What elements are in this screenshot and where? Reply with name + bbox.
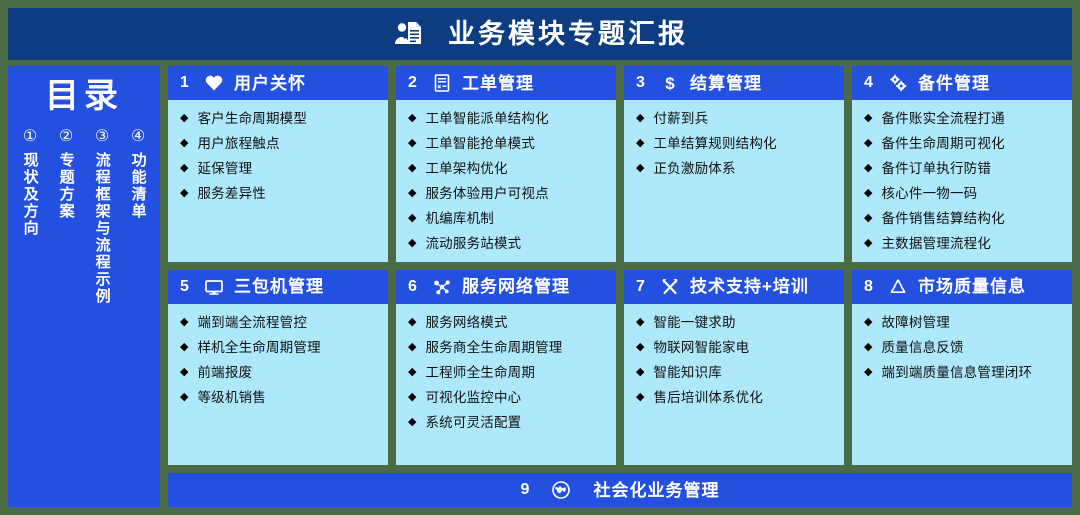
list-item: ◆服务商全生命周期管理 [408,338,610,357]
app-header: 业务模块专题汇报 [8,8,1072,60]
list-item-label: 付薪到兵 [653,109,708,128]
module-card-5-number: 5 [180,279,194,295]
module-card-6-title: 服务网络管理 [462,278,570,295]
sidebar-item-3-label: 流程框架与流程示例 [93,152,110,305]
dollar-icon: $ [660,73,680,93]
module-card-3-number: 3 [636,75,650,91]
list-item-label: 备件生命周期可视化 [881,134,1004,153]
diamond-bullet-icon: ◆ [636,388,644,407]
module-card-grid: 1 用户关怀 ◆客户生命周期模型 ◆用户旅程触点 ◆延保管理 ◆服务差异性 2 [168,66,1072,465]
list-item-label: 工单结算规则结构化 [653,134,776,153]
list-item-label: 故障树管理 [881,313,950,332]
sidebar-item-2-label: 专题方案 [57,152,74,220]
sidebar-item-1-number: ① [23,129,37,145]
list-item: ◆备件订单执行防错 [864,159,1066,178]
diamond-bullet-icon: ◆ [636,363,644,382]
diamond-bullet-icon: ◆ [864,209,872,228]
sidebar-item-4[interactable]: ④ 功能清单 [122,129,154,220]
diamond-bullet-icon: ◆ [636,134,644,153]
module-card-2-number: 2 [408,75,422,91]
crossed-tools-icon [660,277,680,297]
list-item: ◆机编库机制 [408,209,610,228]
diamond-bullet-icon: ◆ [636,338,644,357]
module-card-8-items: ◆故障树管理 ◆质量信息反馈 ◆端到端质量信息管理闭环 [852,304,1072,466]
sidebar-toc-list: ④ 功能清单 ③ 流程框架与流程示例 ② 专题方案 ① 现状及方向 [8,129,160,305]
list-item-label: 备件账实全流程打通 [881,109,1004,128]
module-card-1-title: 用户关怀 [234,75,306,92]
module-card-6[interactable]: 6 服务网络管理 ◆服务网络模式 ◆服务商全生命周期管理 ◆工程师全生命周期 [396,270,616,466]
list-item-label: 客户生命周期模型 [197,109,307,128]
diamond-bullet-icon: ◆ [864,109,872,128]
list-item: ◆服务差异性 [180,184,382,203]
sidebar-item-1[interactable]: ① 现状及方向 [14,129,46,237]
list-item-label: 端到端质量信息管理闭环 [881,363,1032,382]
module-card-9-title: 社会化业务管理 [593,482,719,499]
list-item: ◆工单结算规则结构化 [636,134,838,153]
module-card-7-number: 7 [636,279,650,295]
sidebar-item-4-number: ④ [131,129,145,145]
list-item: ◆付薪到兵 [636,109,838,128]
list-item-label: 工单架构优化 [425,159,507,178]
module-card-2-title: 工单管理 [462,75,534,92]
list-item: ◆用户旅程触点 [180,134,382,153]
list-item: ◆服务网络模式 [408,313,610,332]
diamond-bullet-icon: ◆ [408,338,416,357]
list-item-label: 主数据管理流程化 [881,234,991,253]
sidebar-title: 目录 [8,78,160,115]
diamond-bullet-icon: ◆ [864,313,872,332]
module-card-8-header: 8 市场质量信息 [852,270,1072,304]
module-card-9-footer[interactable]: 9 社会化业务管理 [168,473,1072,507]
sidebar-item-2-number: ② [59,129,73,145]
list-item: ◆智能知识库 [636,363,838,382]
list-item: ◆等级机销售 [180,388,382,407]
list-item: ◆质量信息反馈 [864,338,1066,357]
diamond-bullet-icon: ◆ [408,413,416,432]
diamond-bullet-icon: ◆ [180,338,188,357]
recycle-icon [888,277,908,297]
diamond-bullet-icon: ◆ [180,388,188,407]
list-item: ◆备件生命周期可视化 [864,134,1066,153]
module-card-1-header: 1 用户关怀 [168,66,388,100]
module-card-5[interactable]: 5 三包机管理 ◆端到端全流程管控 ◆样机全生命周期管理 ◆前端报废 ◆等级机销… [168,270,388,466]
list-item: ◆智能一键求助 [636,313,838,332]
list-item: ◆工单架构优化 [408,159,610,178]
diamond-bullet-icon: ◆ [864,363,872,382]
list-item-label: 样机全生命周期管理 [197,338,320,357]
list-item: ◆系统可灵活配置 [408,413,610,432]
sidebar-item-2[interactable]: ② 专题方案 [50,129,82,220]
person-document-icon [392,17,426,51]
module-card-1-number: 1 [180,75,194,91]
diamond-bullet-icon: ◆ [408,388,416,407]
diamond-bullet-icon: ◆ [408,134,416,153]
module-card-2[interactable]: 2 工单管理 ◆工单智能派单结构化 ◆工单智能抢单模式 ◆工单架构优化 ◆服务体… [396,66,616,262]
list-item-label: 用户旅程触点 [197,134,279,153]
list-item-label: 工程师全生命周期 [425,363,535,382]
list-item-label: 售后培训体系优化 [653,388,763,407]
diamond-bullet-icon: ◆ [408,184,416,203]
module-card-2-header: 2 工单管理 [396,66,616,100]
list-item-label: 系统可灵活配置 [425,413,521,432]
list-item-label: 等级机销售 [197,388,266,407]
list-item-label: 服务差异性 [197,184,266,203]
module-card-4-items: ◆备件账实全流程打通 ◆备件生命周期可视化 ◆备件订单执行防错 ◆核心件一物一码… [852,100,1072,262]
list-item-label: 端到端全流程管控 [197,313,307,332]
list-item: ◆售后培训体系优化 [636,388,838,407]
module-card-8-title: 市场质量信息 [918,278,1026,295]
module-card-7-items: ◆智能一键求助 ◆物联网智能家电 ◆智能知识库 ◆售后培训体系优化 [624,304,844,466]
monitor-icon [204,277,224,297]
list-item-label: 服务商全生命周期管理 [425,338,562,357]
diamond-bullet-icon: ◆ [180,159,188,178]
module-card-1[interactable]: 1 用户关怀 ◆客户生命周期模型 ◆用户旅程触点 ◆延保管理 ◆服务差异性 [168,66,388,262]
diamond-bullet-icon: ◆ [408,159,416,178]
module-card-5-header: 5 三包机管理 [168,270,388,304]
globe-icon [551,480,571,500]
list-item-label: 质量信息反馈 [881,338,963,357]
module-card-6-number: 6 [408,279,422,295]
list-item: ◆核心件一物一码 [864,184,1066,203]
list-item: ◆故障树管理 [864,313,1066,332]
module-card-9-number: 9 [521,482,530,498]
list-item-label: 前端报废 [197,363,252,382]
diamond-bullet-icon: ◆ [408,109,416,128]
module-card-6-items: ◆服务网络模式 ◆服务商全生命周期管理 ◆工程师全生命周期 ◆可视化监控中心 ◆… [396,304,616,466]
diamond-bullet-icon: ◆ [408,313,416,332]
list-item-label: 服务体验用户可视点 [425,184,548,203]
diamond-bullet-icon: ◆ [636,159,644,178]
module-card-3-header: 3 $ 结算管理 [624,66,844,100]
list-item-label: 可视化监控中心 [425,388,521,407]
list-item-label: 智能一键求助 [653,313,735,332]
module-card-3[interactable]: 3 $ 结算管理 ◆付薪到兵 ◆工单结算规则结构化 ◆正负激励体系 [624,66,844,262]
list-item-label: 核心件一物一码 [881,184,977,203]
sidebar-item-4-label: 功能清单 [129,152,146,220]
list-item-label: 备件销售结算结构化 [881,209,1004,228]
diamond-bullet-icon: ◆ [864,184,872,203]
module-card-5-items: ◆端到端全流程管控 ◆样机全生命周期管理 ◆前端报废 ◆等级机销售 [168,304,388,466]
list-item: ◆端到端质量信息管理闭环 [864,363,1066,382]
sidebar: 目录 ④ 功能清单 ③ 流程框架与流程示例 ② 专题方案 ① 现状及方向 [8,66,160,507]
diamond-bullet-icon: ◆ [408,363,416,382]
diamond-bullet-icon: ◆ [180,109,188,128]
diamond-bullet-icon: ◆ [864,338,872,357]
module-card-3-title: 结算管理 [690,75,762,92]
list-item: ◆样机全生命周期管理 [180,338,382,357]
module-card-4[interactable]: 4 备件管理 ◆备件账实全流程打通 [852,66,1072,262]
list-item: ◆端到端全流程管控 [180,313,382,332]
module-card-7-header: 7 技术支持+培训 [624,270,844,304]
diamond-bullet-icon: ◆ [636,313,644,332]
list-item: ◆工单智能派单结构化 [408,109,610,128]
diamond-bullet-icon: ◆ [864,234,872,253]
diamond-bullet-icon: ◆ [408,234,416,253]
diamond-bullet-icon: ◆ [180,134,188,153]
list-item: ◆服务体验用户可视点 [408,184,610,203]
module-card-6-header: 6 服务网络管理 [396,270,616,304]
module-card-4-number: 4 [864,75,878,91]
list-item: ◆延保管理 [180,159,382,178]
list-item: ◆客户生命周期模型 [180,109,382,128]
list-item-label: 工单智能抢单模式 [425,134,535,153]
list-item: ◆主数据管理流程化 [864,234,1066,253]
module-card-7-title: 技术支持+培训 [690,278,809,295]
list-item-label: 正负激励体系 [653,159,735,178]
diamond-bullet-icon: ◆ [408,209,416,228]
module-card-1-items: ◆客户生命周期模型 ◆用户旅程触点 ◆延保管理 ◆服务差异性 [168,100,388,262]
list-item-label: 延保管理 [197,159,252,178]
gears-icon [888,73,908,93]
page-title: 业务模块专题汇报 [448,21,688,48]
sidebar-item-3-number: ③ [95,129,109,145]
module-card-2-items: ◆工单智能派单结构化 ◆工单智能抢单模式 ◆工单架构优化 ◆服务体验用户可视点 … [396,100,616,262]
list-item-label: 备件订单执行防错 [881,159,991,178]
list-item: ◆正负激励体系 [636,159,838,178]
diamond-bullet-icon: ◆ [636,109,644,128]
list-item: ◆备件销售结算结构化 [864,209,1066,228]
module-card-5-title: 三包机管理 [234,278,324,295]
list-item-label: 流动服务站模式 [425,234,521,253]
diamond-bullet-icon: ◆ [864,134,872,153]
sidebar-item-3[interactable]: ③ 流程框架与流程示例 [86,129,118,305]
module-card-3-items: ◆付薪到兵 ◆工单结算规则结构化 ◆正负激励体系 [624,100,844,262]
diamond-bullet-icon: ◆ [180,184,188,203]
module-card-4-title: 备件管理 [918,75,990,92]
list-item: ◆备件账实全流程打通 [864,109,1066,128]
list-item: ◆工程师全生命周期 [408,363,610,382]
list-item: ◆物联网智能家电 [636,338,838,357]
network-nodes-icon [432,277,452,297]
module-card-7[interactable]: 7 技术支持+培训 ◆智能一键求助 ◆物联网智能家电 ◆智能知识库 ◆售后培训体… [624,270,844,466]
diamond-bullet-icon: ◆ [180,313,188,332]
list-item-label: 工单智能派单结构化 [425,109,548,128]
module-card-4-header: 4 备件管理 [852,66,1072,100]
module-card-8[interactable]: 8 市场质量信息 ◆故障树管理 ◆质 [852,270,1072,466]
heart-icon [204,73,224,93]
diamond-bullet-icon: ◆ [864,159,872,178]
list-item-label: 智能知识库 [653,363,722,382]
list-item: ◆流动服务站模式 [408,234,610,253]
list-item-label: 服务网络模式 [425,313,507,332]
svg-text:$: $ [665,74,675,93]
diamond-bullet-icon: ◆ [180,363,188,382]
list-item: ◆前端报废 [180,363,382,382]
list-item: ◆可视化监控中心 [408,388,610,407]
sidebar-item-1-label: 现状及方向 [21,152,38,237]
list-item-label: 物联网智能家电 [653,338,749,357]
module-card-8-number: 8 [864,279,878,295]
list-item: ◆工单智能抢单模式 [408,134,610,153]
list-item-label: 机编库机制 [425,209,494,228]
work-order-document-icon [432,73,452,93]
